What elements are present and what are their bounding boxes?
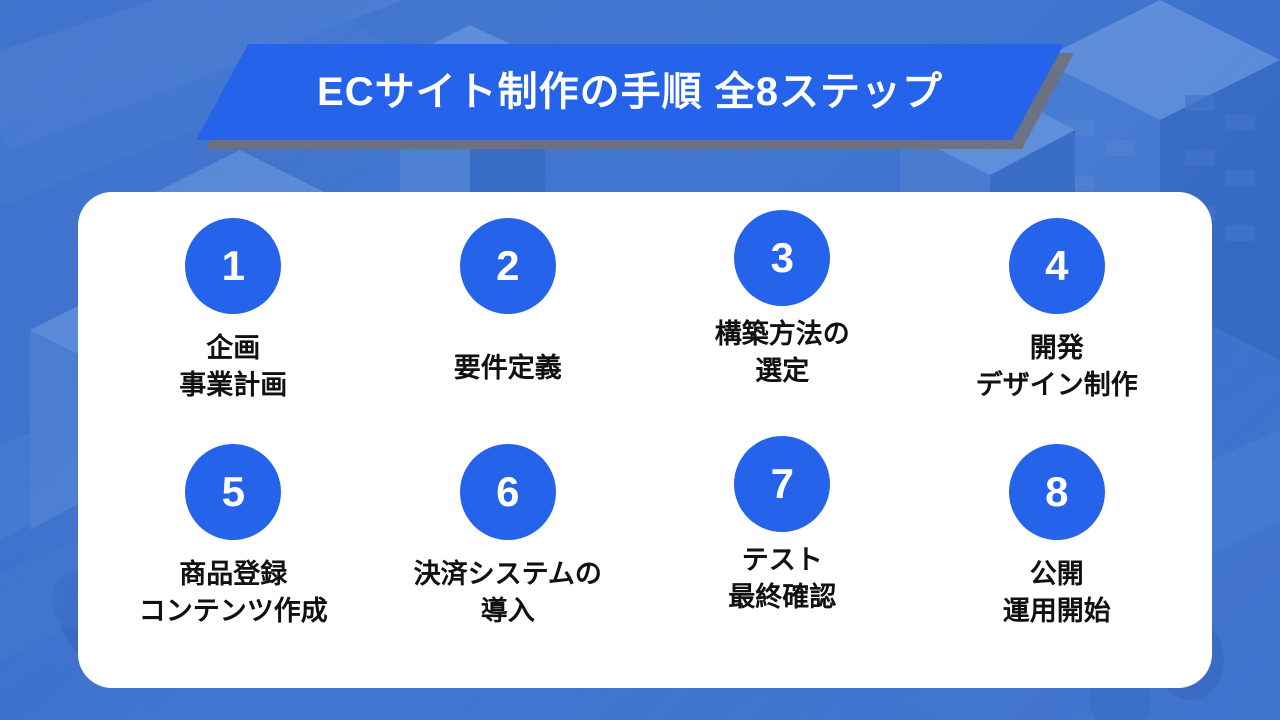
step-label-7: テスト 最終確認 [728, 542, 836, 617]
step-number-badge-2: 2 [460, 218, 556, 314]
step-item-8[interactable]: 8 公開 運用開始 [920, 444, 1195, 670]
step-item-7[interactable]: 7 テスト 最終確認 [645, 436, 920, 670]
step-item-6[interactable]: 6 決済システムの 導入 [371, 444, 646, 670]
step-label-8: 公開 運用開始 [1003, 556, 1111, 631]
step-label-line2: デザイン制作 [976, 367, 1138, 404]
step-number-badge-5: 5 [185, 444, 281, 540]
step-item-2[interactable]: 2 要件定義 [371, 218, 646, 444]
step-label-line1: 構築方法の [715, 316, 850, 353]
step-label-2: 要件定義 [454, 350, 562, 387]
step-item-5[interactable]: 5 商品登録 コンテンツ作成 [96, 444, 371, 670]
step-label-line1: 要件定義 [454, 350, 562, 387]
step-label-line2: 選定 [715, 353, 850, 390]
step-label-line2: 事業計画 [179, 367, 287, 404]
step-label-5: 商品登録 コンテンツ作成 [139, 556, 328, 631]
step-label-line1: 開発 [976, 330, 1138, 367]
steps-grid: 1 企画 事業計画 2 要件定義 3 構築方法の 選定 4 開発 デザイン制作 [78, 192, 1212, 688]
step-number-badge-4: 4 [1009, 218, 1105, 314]
page-title: ECサイト制作の手順 全8ステップ [317, 72, 943, 112]
step-number-badge-1: 1 [185, 218, 281, 314]
step-label-1: 企画 事業計画 [179, 330, 287, 405]
step-item-1[interactable]: 1 企画 事業計画 [96, 218, 371, 444]
step-number-badge-6: 6 [460, 444, 556, 540]
step-label-line1: テスト [728, 542, 836, 579]
step-item-4[interactable]: 4 開発 デザイン制作 [920, 218, 1195, 444]
step-label-3: 構築方法の 選定 [715, 316, 850, 391]
step-label-4: 開発 デザイン制作 [976, 330, 1138, 405]
step-label-line2: 運用開始 [1003, 593, 1111, 630]
step-label-line1: 商品登録 [139, 556, 328, 593]
step-label-line1: 企画 [179, 330, 287, 367]
step-item-3[interactable]: 3 構築方法の 選定 [645, 210, 920, 444]
step-label-line2: コンテンツ作成 [139, 593, 328, 630]
title-banner-shape: ECサイト制作の手順 全8ステップ [196, 44, 1064, 140]
title-banner: ECサイト制作の手順 全8ステップ [196, 44, 1076, 148]
steps-card: 1 企画 事業計画 2 要件定義 3 構築方法の 選定 4 開発 デザイン制作 [78, 192, 1212, 688]
step-number-badge-7: 7 [734, 436, 830, 532]
step-number-badge-8: 8 [1009, 444, 1105, 540]
step-label-line2: 導入 [414, 593, 602, 630]
step-label-6: 決済システムの 導入 [414, 556, 602, 631]
step-label-line2: 最終確認 [728, 579, 836, 616]
step-label-line1: 決済システムの [414, 556, 602, 593]
step-number-badge-3: 3 [734, 210, 830, 306]
step-label-line1: 公開 [1003, 556, 1111, 593]
